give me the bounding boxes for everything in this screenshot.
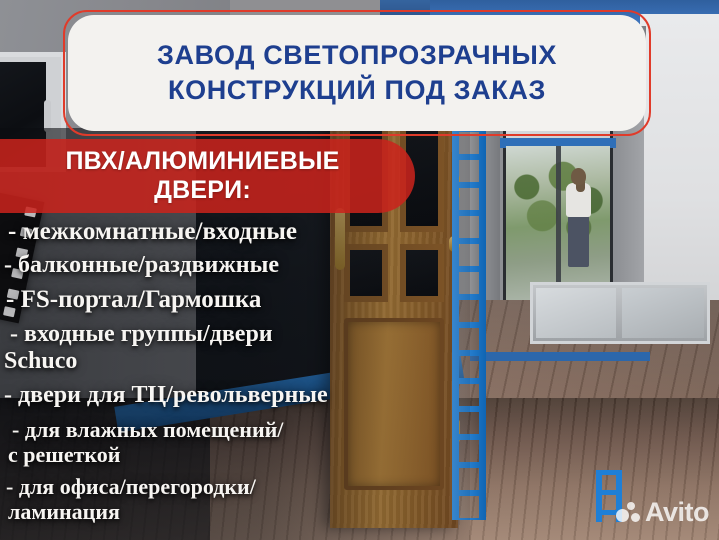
avito-watermark: Avito bbox=[616, 499, 709, 526]
list-item: - для офиса/перегородки/ bbox=[6, 476, 434, 498]
list-item: Schuco bbox=[4, 349, 434, 373]
list-item: ламинация bbox=[8, 501, 434, 523]
headline-banner: ЗАВОД СВЕТОПРОЗРАЧНЫХ КОНСТРУКЦИЙ ПОД ЗА… bbox=[68, 15, 646, 131]
listing-image: ЗАВОД СВЕТОПРОЗРАЧНЫХ КОНСТРУКЦИЙ ПОД ЗА… bbox=[0, 0, 719, 540]
banner-line-2: КОНСТРУКЦИЙ ПОД ЗАКАЗ bbox=[168, 74, 546, 107]
person-head bbox=[571, 168, 586, 185]
avito-wordmark: Avito bbox=[645, 499, 709, 526]
banner-line-1: ЗАВОД СВЕТОПРОЗРАЧНЫХ bbox=[157, 39, 557, 72]
headline-line-1: ПВХ/АЛЮМИНИЕВЫЕ bbox=[65, 147, 339, 177]
list-item: - межкомнатные/входные bbox=[8, 219, 434, 244]
avito-dots-icon bbox=[616, 502, 640, 524]
list-item: - FS-портал/Гармошка bbox=[6, 287, 434, 312]
list-item: - входные группы/двери bbox=[10, 322, 434, 346]
low-window-pane-left bbox=[536, 288, 616, 338]
list-item: - двери для ТЦ/револьверные bbox=[4, 383, 434, 407]
list-item: с решеткой bbox=[8, 444, 434, 466]
person-legs bbox=[568, 215, 589, 267]
category-headline-block: ПВХ/АЛЮМИНИЕВЫЕ ДВЕРИ: bbox=[0, 139, 415, 213]
blue-baseboard bbox=[470, 352, 650, 361]
list-item: - для влажных помещений/ bbox=[12, 419, 434, 441]
low-window-pane-right bbox=[622, 288, 704, 338]
headline-line-2: ДВЕРИ: bbox=[154, 176, 251, 206]
services-list: - межкомнатные/входные - балконные/раздв… bbox=[4, 219, 434, 523]
list-item: - балконные/раздвижные bbox=[4, 253, 434, 277]
